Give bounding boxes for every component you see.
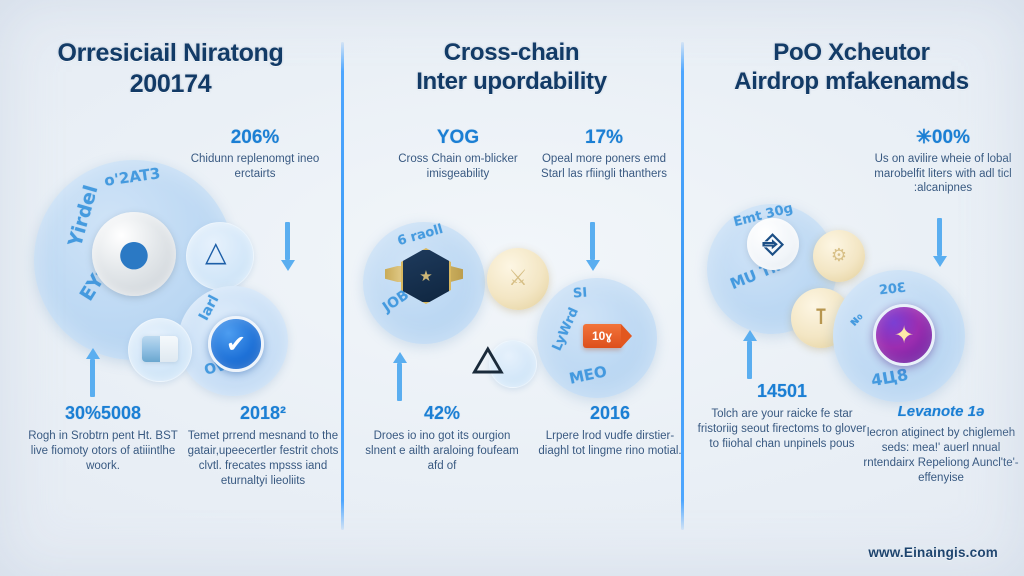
- column-3-title-line1: PoO Xcheutor: [697, 38, 1006, 67]
- column-2-antenna-circle: [489, 340, 537, 388]
- column-3-top-stat-value: ✳00%: [867, 128, 1019, 149]
- column-3-arrow-up: [743, 330, 756, 379]
- column-3-bottom-stat-1-desc: Tolch are your raicke fe star fristoriig…: [697, 407, 867, 453]
- column-2-top-stat-1-value: YOG: [383, 128, 533, 149]
- column-1-bottom-stat-2-desc: Temet prrend mesnand to the gatair,upeec…: [182, 429, 344, 490]
- purple-comet-icon: ✦: [873, 304, 935, 366]
- column-3-left-inner-disc: ⎆: [747, 218, 799, 270]
- column-1-top-stat-value: 206%: [180, 128, 330, 149]
- gold-seal-icon: ⚔: [487, 248, 549, 310]
- orange-tag-label: 10ɣ: [592, 329, 612, 343]
- pin-location-icon: ●: [118, 236, 149, 272]
- column-2-bottom-stat-2-desc: Lrpere lrod vudfe dirstier- diaghl tot l…: [529, 429, 691, 459]
- temple-a-icon: ⎆: [763, 231, 784, 257]
- column-2-top-stat-1: YOG Cross Chain om-blicker imisgeability: [383, 128, 533, 181]
- column-2-title: Cross-chain Inter upordability: [357, 38, 666, 97]
- column-1-top-stat-desc: Chidunn replenomgt ineo erctairts: [180, 152, 330, 181]
- column-2-top-stat-1-desc: Cross Chain om-blicker imisgeability: [383, 152, 533, 181]
- column-1-bottom-stat-2-value: 2018²: [182, 404, 344, 424]
- hex-badge-inner-glyph: ★: [419, 269, 432, 284]
- column-1-bottom-stat-1-value: 30%5008: [22, 404, 184, 424]
- gold-gear-inner-glyph: ⚙: [831, 247, 847, 265]
- column-1: Orresiciail Niratong 200174 o'2AT3 Yirde…: [0, 0, 341, 576]
- column-3-right-arc-top: 20Ɛ: [878, 281, 907, 299]
- footer-url[interactable]: www.Einaingis.com: [868, 545, 998, 560]
- column-2-arrow-up: [393, 352, 406, 401]
- column-3-bottom-stat-1-value: 14501: [697, 382, 867, 402]
- column-3-title-line2: Airdrop mfakenamds: [697, 67, 1006, 96]
- column-3-top-stat: ✳00% Us on avilire wheie of lobal marobe…: [867, 128, 1019, 196]
- column-3-arrow-down: [933, 218, 946, 267]
- column-1-inner-disc: ●: [92, 212, 176, 296]
- column-2-bottom-stat-1-value: 42%: [361, 404, 523, 424]
- column-1-accent-disc: ✔: [208, 316, 264, 372]
- column-2-bottom-stat-2-value: 2016: [529, 404, 691, 424]
- gold-gear-icon: ⚙: [813, 230, 865, 282]
- column-2-arrow-down: [586, 222, 599, 271]
- column-3-bottom-stat-2: Levanote 1ə lecron atiginect by chigleme…: [861, 404, 1021, 486]
- column-2-top-stat-2: 17% Opeal more poners emd Starl las rfii…: [531, 128, 677, 181]
- column-2-bottom-stat-1-desc: Droes io ino got its ourgion slnent e ai…: [361, 429, 523, 475]
- column-2-title-line2: Inter upordability: [357, 67, 666, 96]
- column-1-arrow-up: [86, 348, 99, 397]
- column-1-bottom-stat-1: 30%5008 Rogh in Srobtrn pent Ht. BST liv…: [22, 404, 184, 474]
- column-1-title-line2: 200174: [16, 69, 325, 100]
- photo-chip-icon: [142, 336, 178, 362]
- infographic-canvas: Orresiciail Niratong 200174 o'2AT3 Yirde…: [0, 0, 1024, 576]
- column-2-title-line1: Cross-chain: [357, 38, 666, 67]
- column-2-bottom-stat-2: 2016 Lrpere lrod vudfe dirstier- diaghl …: [529, 404, 691, 459]
- column-3-top-stat-desc: Us on avilire wheie of lobal marobelfit …: [867, 152, 1019, 196]
- column-divider-1: [341, 42, 344, 530]
- column-1-bottom-stat-1-desc: Rogh in Srobtrn pent Ht. BST live fiomot…: [22, 429, 184, 475]
- column-3-bottom-stat-2-value: Levanote 1ə: [861, 404, 1021, 421]
- orange-price-tag-icon: 10ɣ: [583, 324, 621, 348]
- column-2-right-arc-top: SI: [572, 286, 587, 302]
- column-1-title-line1: Orresiciail Niratong: [16, 38, 325, 69]
- column-divider-2: [681, 42, 684, 530]
- column-2-top-stat-2-desc: Opeal more poners emd Starl las rfiingli…: [531, 152, 677, 181]
- purple-comet-inner-glyph: ✦: [894, 323, 914, 347]
- bird-check-icon: ✔: [226, 332, 246, 356]
- column-3-bottom-stat-2-desc: lecron atiginect by chiglemeh seds: mea!…: [861, 426, 1021, 487]
- column-1-title: Orresiciail Niratong 200174: [16, 38, 325, 99]
- gold-razor-inner-glyph: ⊺: [815, 307, 827, 329]
- column-2-top-stat-2-value: 17%: [531, 128, 677, 149]
- column-1-arrow-down: [281, 222, 294, 271]
- column-2: Cross-chain Inter upordability 6 raoll J…: [341, 0, 682, 576]
- column-1-top-stat: 206% Chidunn replenomgt ineo erctairts: [180, 128, 330, 181]
- column-3: PoO Xcheutor Airdrop mfakenamds Emt 30ɡ …: [681, 0, 1022, 576]
- column-3-bottom-stat-1: 14501 Tolch are your raicke fe star fris…: [697, 382, 867, 452]
- warning-triangle-icon: △: [205, 238, 227, 266]
- gold-seal-inner-glyph: ⚔: [508, 268, 528, 290]
- column-3-title: PoO Xcheutor Airdrop mfakenamds: [697, 38, 1006, 97]
- column-1-bottom-stat-2: 2018² Temet prrend mesnand to the gatair…: [182, 404, 344, 489]
- column-2-bottom-stat-1: 42% Droes io ino got its ourgion slnent …: [361, 404, 523, 474]
